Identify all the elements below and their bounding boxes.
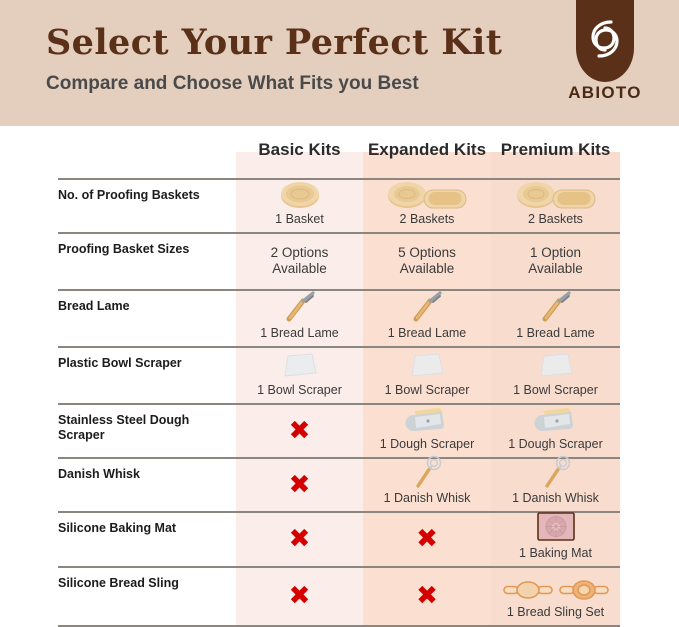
column-header-expanded[interactable]: Expanded Kits [363, 140, 491, 160]
not-included-cross-icon: ✖ [289, 418, 311, 444]
table-row: Plastic Bowl Scraper1 Bowl Scraper1 Bowl… [0, 347, 679, 403]
table-cell: 1 Dough Scraper [363, 404, 491, 457]
table-cell: 1 Danish Whisk [363, 458, 491, 511]
cell-caption: 1 Basket [275, 212, 324, 227]
not-included-cross-icon: ✖ [289, 472, 311, 498]
cell-caption: 1 Danish Whisk [384, 491, 471, 506]
cell-caption: 1 Bowl Scraper [513, 383, 598, 398]
page-title: Select Your Perfect Kit [46, 22, 502, 63]
table-cell: 1 Bowl Scraper [236, 347, 363, 403]
stainless-dough-scraper-icon [533, 405, 579, 435]
cell-caption: 1 Dough Scraper [508, 437, 603, 452]
table-cell: 2 Baskets [363, 179, 491, 232]
round-proofing-basket-icon [278, 180, 322, 210]
cell-caption: 1 Dough Scraper [380, 437, 475, 452]
cell-caption: 1 Bread Lame [388, 326, 467, 341]
page-subtitle: Compare and Choose What Fits you Best [46, 73, 419, 95]
table-header-row: Basic Kits Expanded Kits Premium Kits [0, 126, 679, 178]
column-header-premium[interactable]: Premium Kits [491, 140, 620, 160]
table-cell: 2 OptionsAvailable [236, 233, 363, 289]
table-cell: 5 OptionsAvailable [363, 233, 491, 289]
table-cell: 1 Baking Mat [491, 512, 620, 566]
danish-whisk-icon [408, 455, 446, 489]
silicone-baking-mat-icon [534, 510, 578, 544]
table-cell: 1 Bowl Scraper [363, 347, 491, 403]
cell-caption: 1 Bread Sling Set [507, 605, 604, 620]
cell-caption: 1 Bread Lame [260, 326, 339, 341]
table-cell: 1 Bread Lame [236, 290, 363, 346]
table-row: No. of Proofing Baskets1 Basket2 Baskets… [0, 179, 679, 232]
plastic-bowl-scraper-icon [279, 349, 321, 381]
row-label: Danish Whisk [58, 467, 233, 482]
not-included-cross-icon: ✖ [416, 583, 438, 609]
row-label: Silicone Baking Mat [58, 521, 233, 536]
cell-caption: 2 Baskets [528, 212, 583, 227]
table-cell: ✖ [236, 404, 363, 457]
table-cell: ✖ [363, 512, 491, 566]
table-cell: 1 Bread Lame [491, 290, 620, 346]
table-cell: ✖ [363, 567, 491, 625]
round-and-oval-proofing-baskets-icon [385, 180, 469, 210]
cell-caption: 1 Baking Mat [519, 546, 592, 561]
table-row: Stainless Steel Dough Scraper✖1 Dough Sc… [0, 404, 679, 457]
row-label: Proofing Basket Sizes [58, 242, 233, 257]
bread-lame-icon [280, 290, 320, 324]
table-row: Proofing Basket Sizes2 OptionsAvailable5… [0, 233, 679, 289]
table-row: Silicone Bread Sling✖✖1 Bread Sling Set [0, 567, 679, 625]
table-row: Bread Lame1 Bread Lame1 Bread Lame1 Brea… [0, 290, 679, 346]
brand-logo: ABIOTO [576, 0, 634, 112]
plastic-bowl-scraper-icon [535, 349, 577, 381]
cell-caption: 2 Baskets [400, 212, 455, 227]
not-included-cross-icon: ✖ [289, 583, 311, 609]
table-cell: 2 Baskets [491, 179, 620, 232]
table-row: Silicone Baking Mat✖✖1 Baking Mat [0, 512, 679, 566]
table-cell: ✖ [236, 458, 363, 511]
table-cell: 1 Danish Whisk [491, 458, 620, 511]
stainless-dough-scraper-icon [404, 405, 450, 435]
plastic-bowl-scraper-icon [406, 349, 448, 381]
cell-value-text: 1 OptionAvailable [528, 245, 583, 277]
table-cell: 1 Basket [236, 179, 363, 232]
bread-lame-icon [407, 290, 447, 324]
bread-lame-icon [536, 290, 576, 324]
row-label: Plastic Bowl Scraper [58, 356, 233, 371]
not-included-cross-icon: ✖ [416, 526, 438, 552]
not-included-cross-icon: ✖ [289, 526, 311, 552]
cell-caption: 1 Bowl Scraper [385, 383, 470, 398]
table-cell: 1 Bread Sling Set [491, 567, 620, 625]
comparison-table: Basic Kits Expanded Kits Premium Kits No… [0, 126, 679, 625]
cell-value-text: 2 OptionsAvailable [271, 245, 329, 277]
cell-caption: 1 Bowl Scraper [257, 383, 342, 398]
table-cell: 1 Bread Lame [363, 290, 491, 346]
row-label: Silicone Bread Sling [58, 576, 233, 591]
cell-caption: 1 Bread Lame [516, 326, 595, 341]
header-banner: Select Your Perfect Kit Compare and Choo… [0, 0, 679, 126]
row-label: Stainless Steel Dough Scraper [58, 413, 233, 443]
cell-value-text: 5 OptionsAvailable [398, 245, 456, 277]
cell-caption: 1 Danish Whisk [512, 491, 599, 506]
column-header-basic[interactable]: Basic Kits [236, 140, 363, 160]
table-cell: 1 Dough Scraper [491, 404, 620, 457]
table-cell: 1 Bowl Scraper [491, 347, 620, 403]
table-row: Danish Whisk✖1 Danish Whisk1 Danish Whis… [0, 458, 679, 511]
table-cell: ✖ [236, 512, 363, 566]
round-and-oval-proofing-baskets-icon [514, 180, 598, 210]
brand-wordmark: ABIOTO [565, 83, 645, 103]
abioto-monogram-icon [587, 16, 623, 62]
row-label: Bread Lame [58, 299, 233, 314]
row-divider [58, 625, 620, 627]
table-cell: ✖ [236, 567, 363, 625]
silicone-bread-sling-icon [501, 577, 611, 603]
row-label: No. of Proofing Baskets [58, 188, 233, 203]
table-cell: 1 OptionAvailable [491, 233, 620, 289]
danish-whisk-icon [537, 455, 575, 489]
